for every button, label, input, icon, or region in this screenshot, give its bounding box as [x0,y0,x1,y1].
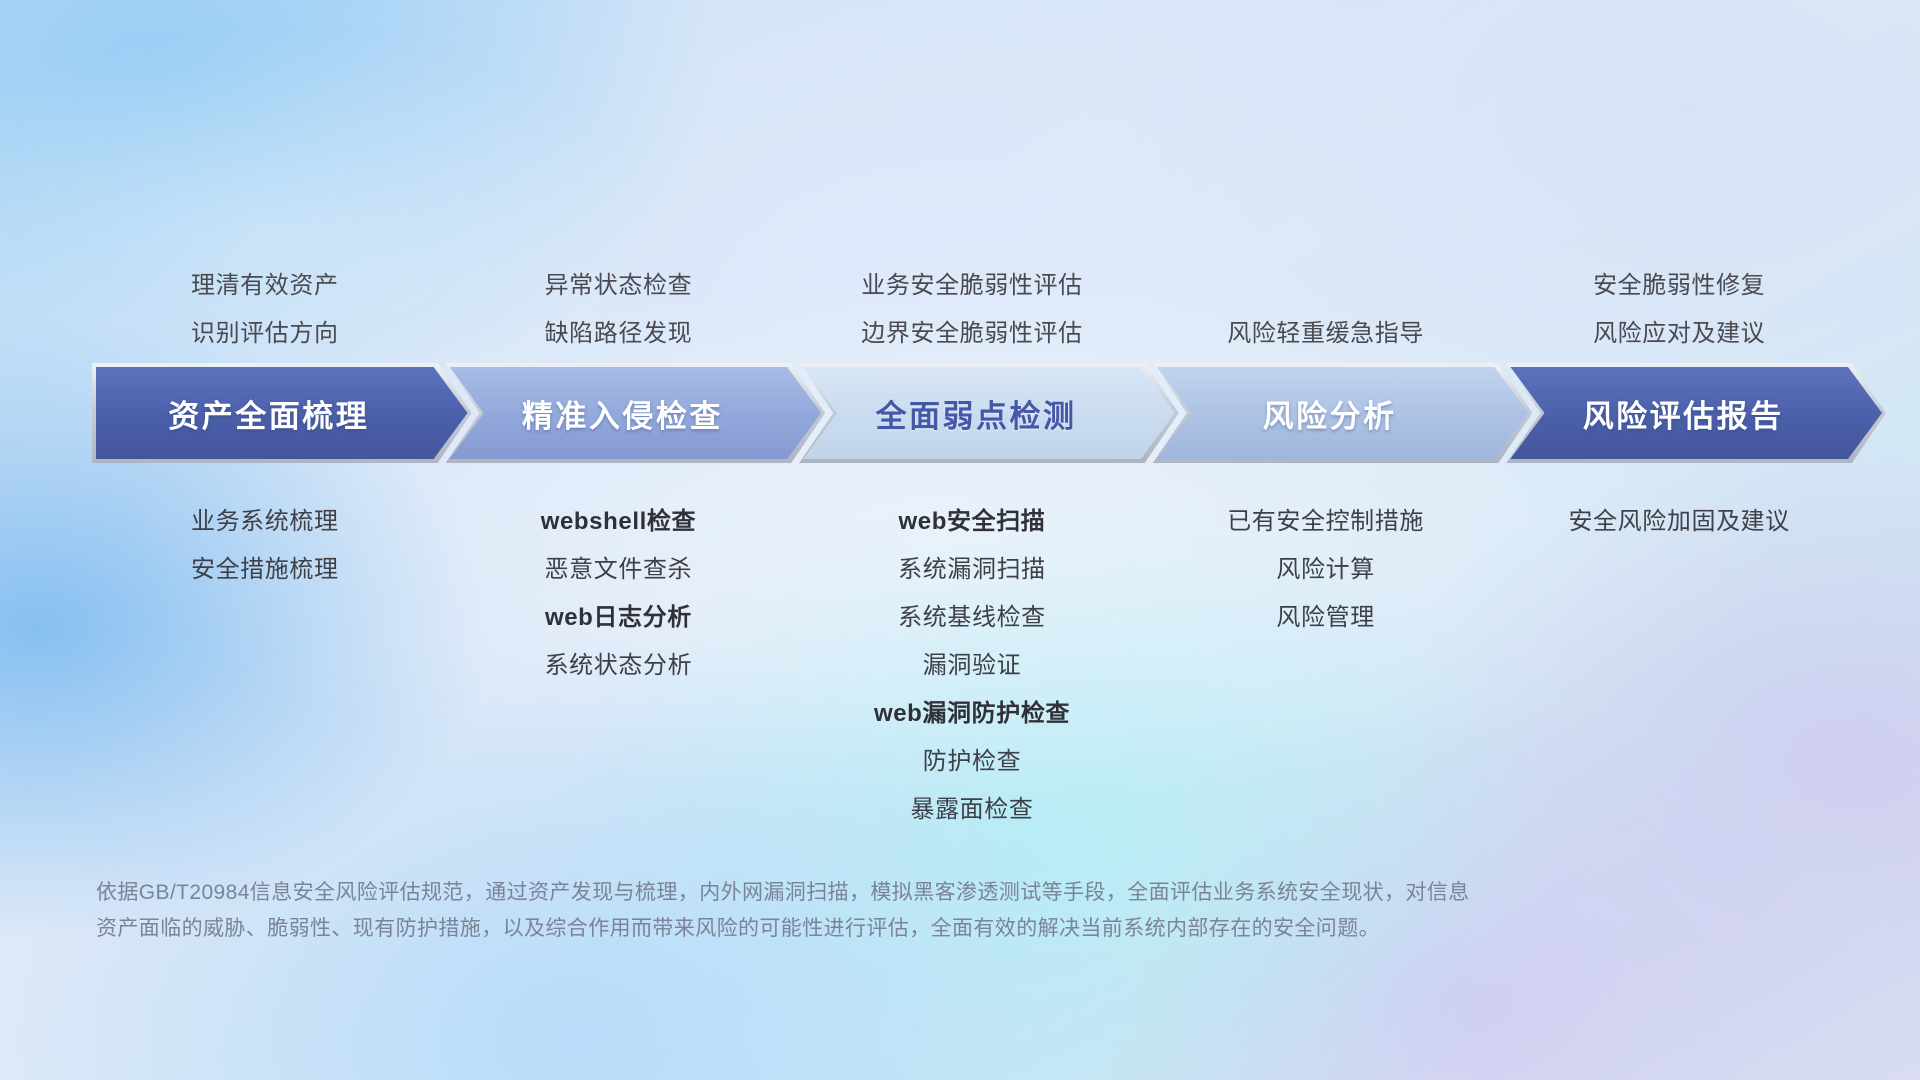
stage-label-4: 风险分析 [1157,391,1529,436]
top-item: 识别评估方向 [191,310,339,358]
top-items-3: 业务安全脆弱性评估边界安全脆弱性评估 [799,262,1145,358]
stage-chevron-1[interactable]: 资产全面梳理 [96,367,468,459]
footer-line-2: 资产面临的威胁、脆弱性、现有防护措施，以及综合作用而带来风险的可能性进行评估，全… [96,911,1636,947]
footer-line-1: 依据GB/T20984信息安全风险评估规范，通过资产发现与梳理，内外网漏洞扫描，… [96,875,1636,911]
stage-label-5: 风险评估报告 [1510,391,1882,436]
stage-label-2: 精准入侵检查 [450,391,822,436]
bottom-item: 业务系统梳理 [191,498,339,546]
bottom-items-1: 业务系统梳理安全措施梳理 [92,498,438,594]
bottom-items-2: webshell检查恶意文件查杀web日志分析系统状态分析 [446,498,792,690]
bottom-item: 安全措施梳理 [191,546,339,594]
bottom-item: 系统基线检查 [898,594,1046,642]
top-item: 业务安全脆弱性评估 [861,262,1082,310]
stage-label-3: 全面弱点检测 [803,391,1175,436]
top-item: 缺陷路径发现 [545,310,693,358]
bottom-item: 系统漏洞扫描 [898,546,1046,594]
bottom-item: 恶意文件查杀 [545,546,693,594]
stage-label-1: 资产全面梳理 [96,391,468,436]
top-item: 理清有效资产 [191,262,339,310]
top-items-5: 安全脆弱性修复风险应对及建议 [1506,262,1852,358]
top-item: 异常状态检查 [545,262,693,310]
bottom-item: web安全扫描 [899,498,1046,546]
stage-chevron-2[interactable]: 精准入侵检查 [450,367,822,459]
process-arrow-band: 资产全面梳理精准入侵检查全面弱点检测风险分析风险评估报告 [92,363,1852,463]
bottom-item: 防护检查 [923,738,1021,786]
bottom-items-3: web安全扫描系统漏洞扫描系统基线检查漏洞验证web漏洞防护检查防护检查暴露面检… [799,498,1145,834]
stage-chevron-5[interactable]: 风险评估报告 [1510,367,1882,459]
top-item: 安全脆弱性修复 [1593,262,1765,310]
top-items-4: 风险轻重缓急指导 [1153,310,1499,358]
bottom-item: 风险管理 [1276,594,1374,642]
bottom-item: 暴露面检查 [910,786,1033,834]
top-item: 边界安全脆弱性评估 [861,310,1082,358]
bottom-item: web日志分析 [545,594,692,642]
top-descriptor-row: 理清有效资产识别评估方向异常状态检查缺陷路径发现业务安全脆弱性评估边界安全脆弱性… [0,208,1920,358]
stage-chevron-4[interactable]: 风险分析 [1157,367,1529,459]
bottom-item: web漏洞防护检查 [874,690,1070,738]
top-item: 风险轻重缓急指导 [1227,310,1424,358]
top-items-1: 理清有效资产识别评估方向 [92,262,438,358]
bottom-items-4: 已有安全控制措施风险计算风险管理 [1153,498,1499,642]
top-item: 风险应对及建议 [1593,310,1765,358]
stage-chevron-3[interactable]: 全面弱点检测 [803,367,1175,459]
bottom-item: webshell检查 [541,498,696,546]
bottom-item: 已有安全控制措施 [1227,498,1424,546]
footer-note: 依据GB/T20984信息安全风险评估规范，通过资产发现与梳理，内外网漏洞扫描，… [96,875,1636,947]
top-items-2: 异常状态检查缺陷路径发现 [446,262,792,358]
bottom-item: 安全风险加固及建议 [1568,498,1789,546]
infographic-stage: 理清有效资产识别评估方向异常状态检查缺陷路径发现业务安全脆弱性评估边界安全脆弱性… [0,0,1920,1080]
bottom-item: 漏洞验证 [923,642,1021,690]
bottom-item: 系统状态分析 [545,642,693,690]
bottom-item: 风险计算 [1276,546,1374,594]
bottom-items-5: 安全风险加固及建议 [1506,498,1852,546]
